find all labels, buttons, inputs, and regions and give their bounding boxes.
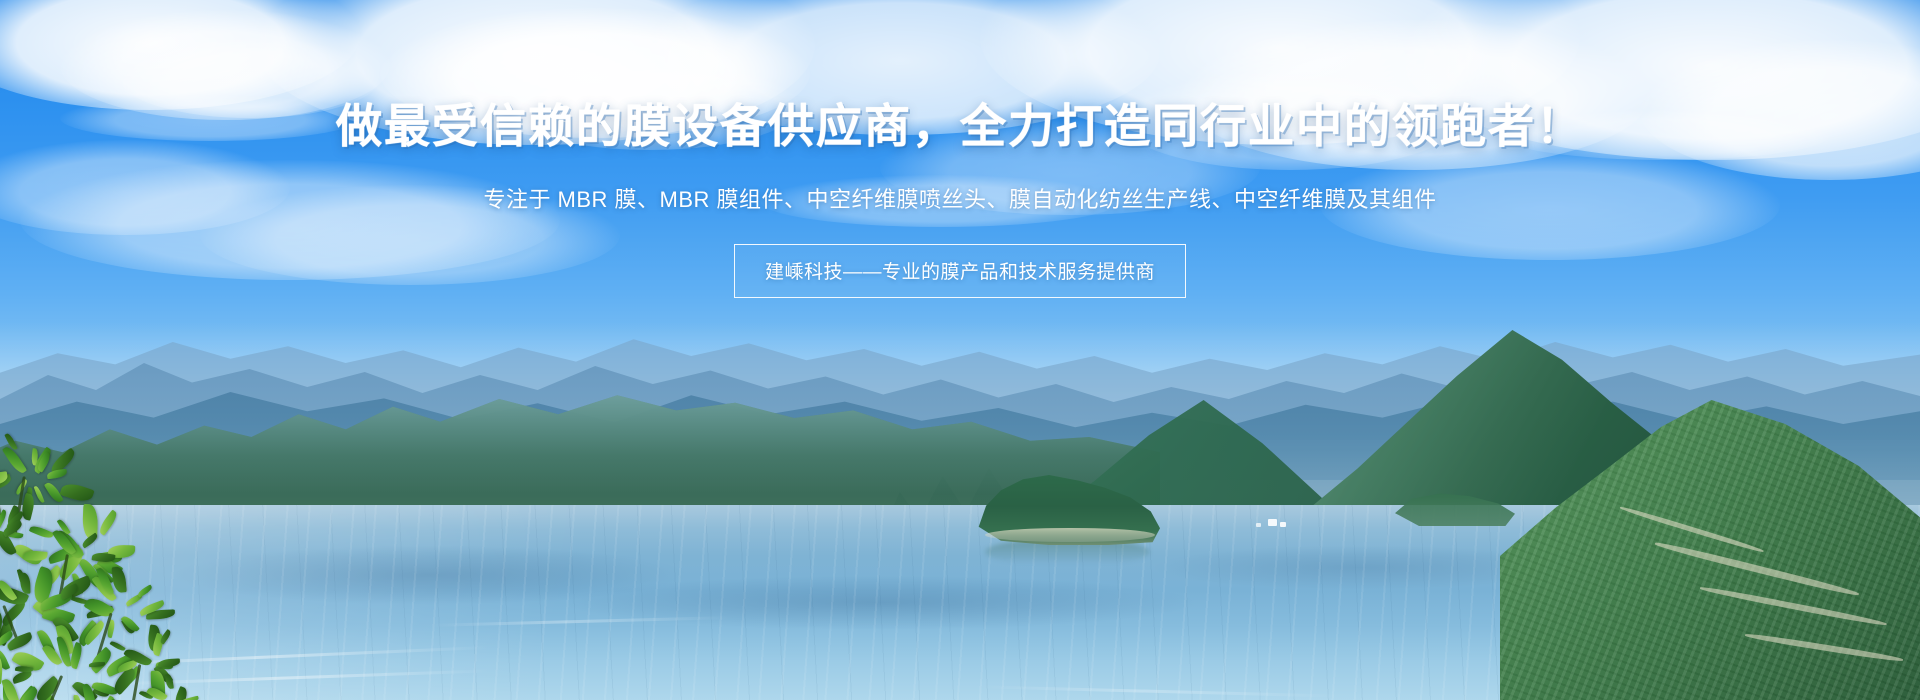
shore-building [1256,523,1261,527]
shore-building [1268,519,1277,526]
banner-tagline-box[interactable]: 建嵊科技——专业的膜产品和技术服务提供商 [734,244,1186,298]
hero-banner: 做最受信赖的膜设备供应商，全力打造同行业中的领跑者！ 专注于 MBR 膜、MBR… [0,0,1920,700]
island-shore [985,528,1155,542]
shore-building [1280,522,1286,527]
